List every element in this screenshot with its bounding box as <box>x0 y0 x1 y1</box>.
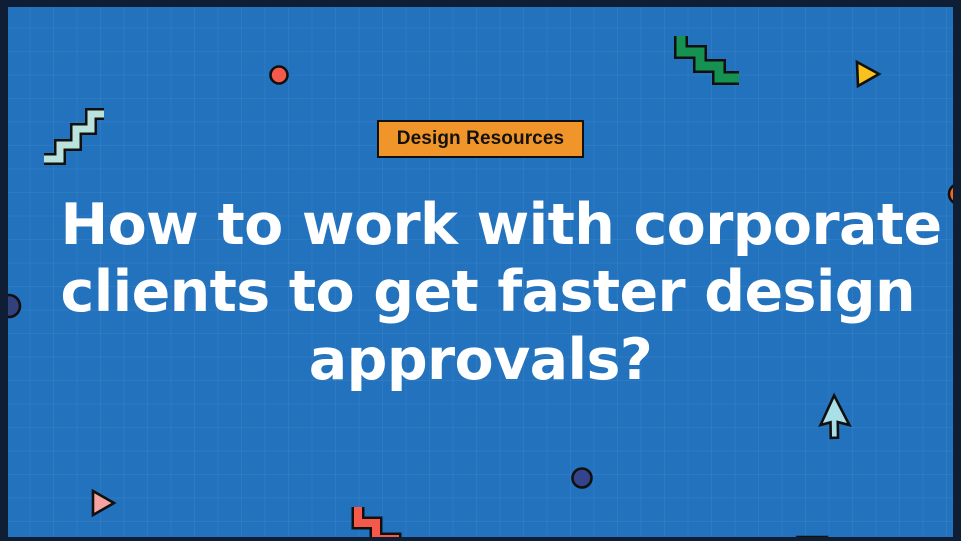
title-line-1: How to work with corporate <box>61 192 901 259</box>
category-badge: Design Resources <box>377 120 584 158</box>
slide-content: Design Resources How to work with corpor… <box>8 7 953 537</box>
title-line-2: clients to get faster design <box>61 259 901 326</box>
slide-canvas: Design Resources How to work with corpor… <box>8 7 953 537</box>
slide-title: How to work with corporate clients to ge… <box>61 192 901 394</box>
title-line-3: approvals? <box>61 327 901 394</box>
slide-frame: Design Resources How to work with corpor… <box>0 0 961 541</box>
